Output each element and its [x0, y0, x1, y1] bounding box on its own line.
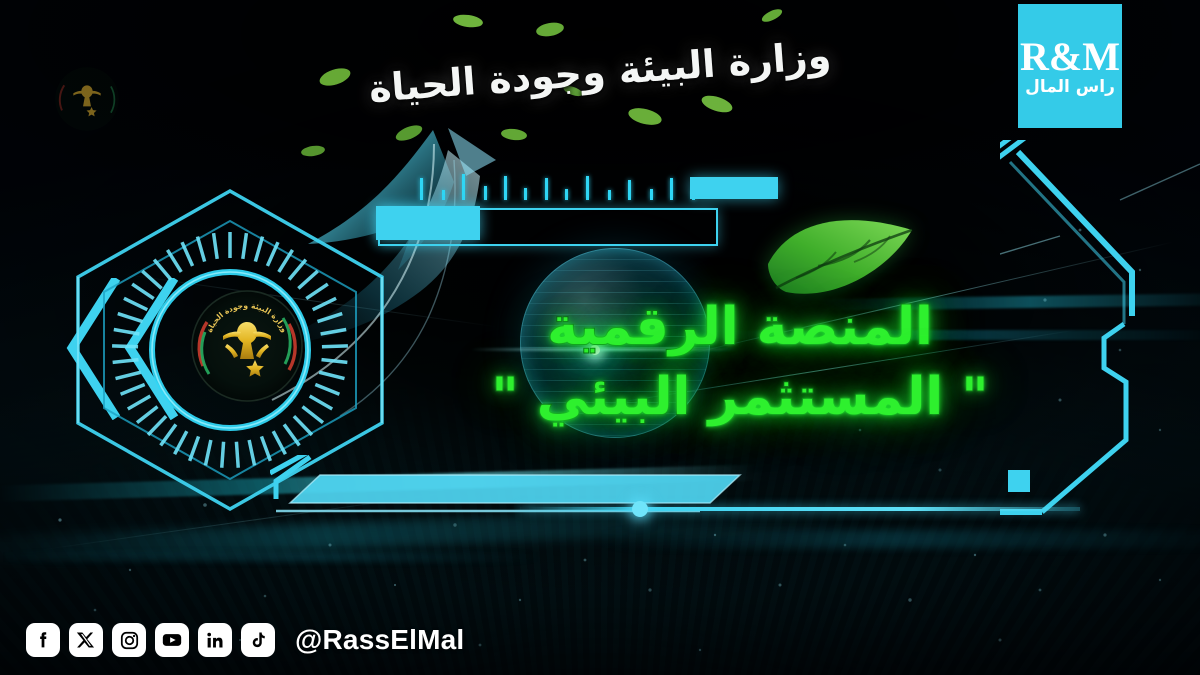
ministry-emblem: وزارة البيئة وجودة الحياة — [189, 288, 305, 404]
hud-slider-track[interactable] — [520, 507, 1080, 511]
youtube-icon[interactable] — [155, 623, 189, 657]
lens-flare-bar — [470, 348, 740, 351]
globe-rim — [520, 248, 710, 438]
hud-indicator-block — [690, 177, 778, 199]
social-bar: @RassElMal — [26, 623, 464, 657]
rm-logo-subtitle: راس المال — [1025, 79, 1115, 96]
hud-slider-handle[interactable] — [632, 501, 648, 517]
social-handle: @RassElMal — [295, 624, 464, 656]
lens-flare — [590, 345, 600, 355]
leaf-icon — [762, 206, 920, 310]
hud-progress-fill — [376, 206, 480, 240]
instagram-icon[interactable] — [112, 623, 146, 657]
hud-progress-bar[interactable] — [378, 208, 718, 246]
x-twitter-icon[interactable] — [69, 623, 103, 657]
right-hud-bracket — [1000, 140, 1200, 540]
video-frame: وزارة البيئة وجودة الحياة — [0, 0, 1200, 675]
bottom-hud-slab — [270, 455, 970, 535]
facebook-icon[interactable] — [26, 623, 60, 657]
ministry-emblem-small — [54, 66, 120, 132]
digital-globe — [520, 248, 710, 438]
rm-logo-main: R&M — [1020, 37, 1120, 77]
rm-logo[interactable]: R&M راس المال — [1018, 4, 1122, 128]
tiktok-icon[interactable] — [241, 623, 275, 657]
linkedin-icon[interactable] — [198, 623, 232, 657]
